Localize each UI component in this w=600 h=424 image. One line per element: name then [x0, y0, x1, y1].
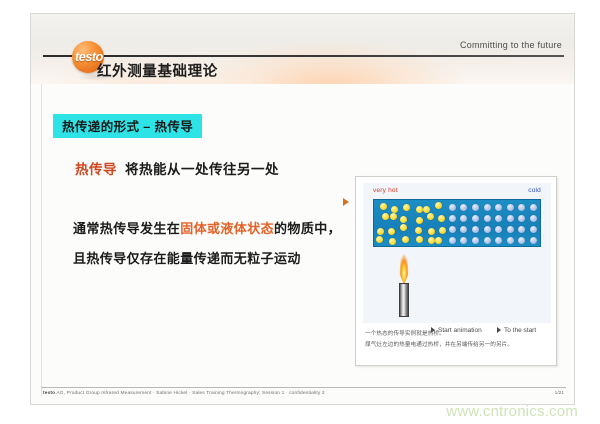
cold-particle	[507, 237, 514, 244]
cold-particle	[460, 215, 467, 222]
cold-particle	[495, 237, 502, 244]
hot-particle	[416, 206, 423, 213]
paragraph-line-1: 通常热传导发生在固体或液体状态的物质中，	[73, 214, 373, 244]
hot-particle	[400, 216, 407, 223]
hot-particle	[416, 217, 423, 224]
cold-particle	[518, 204, 525, 211]
hot-particle	[403, 204, 410, 211]
paragraph-line-2: 且热传导仅存在能量传递而无粒子运动	[73, 244, 373, 274]
hot-particle	[389, 238, 396, 245]
cold-particle	[495, 215, 502, 222]
cold-particle	[449, 215, 456, 222]
hot-particle	[439, 227, 446, 234]
cold-particle	[518, 215, 525, 222]
hot-particle	[428, 228, 435, 235]
screenshot-root: testo Committing to the future 红外测量基础理论 …	[0, 0, 600, 424]
cold-particle	[472, 226, 479, 233]
cold-particle	[507, 204, 514, 211]
cold-particle	[484, 204, 491, 211]
figure-canvas: very hot cold	[363, 183, 551, 323]
cold-particle	[518, 237, 525, 244]
footer-divider-rule	[41, 387, 566, 388]
heat-conduction-figure: very hot cold Start animation To the sta…	[355, 176, 557, 366]
section-heading: 热传递的形式 – 热传导	[53, 114, 202, 138]
cold-particle	[495, 204, 502, 211]
figure-caption: 一个热态的传导实例就是热桥。 煤气灶左边的热量电通过热桥，并在另端传给另一的另片…	[365, 329, 551, 351]
slide-header: testo Committing to the future 红外测量基础理论	[31, 14, 575, 84]
presentation-slide: testo Committing to the future 红外测量基础理论 …	[30, 13, 575, 405]
cold-particle	[472, 204, 479, 211]
cold-particle	[495, 226, 502, 233]
cold-particle	[507, 215, 514, 222]
footer-detail: AG, Product Group Infrared Measurement ·…	[55, 391, 325, 396]
hot-particle	[402, 236, 409, 243]
cold-particle	[530, 237, 537, 244]
cold-particle	[530, 215, 537, 222]
cold-particle	[460, 237, 467, 244]
footer-page-number: 1/21	[555, 391, 564, 396]
hot-particle	[376, 236, 383, 243]
hot-particle	[428, 237, 435, 244]
cold-particle	[472, 237, 479, 244]
cold-particle	[472, 215, 479, 222]
label-cold: cold	[528, 187, 541, 194]
hot-particle	[382, 213, 389, 220]
definition-line: 热传导将热能从一处传往另一处	[75, 158, 279, 178]
cold-particle	[507, 226, 514, 233]
paragraph-line1-suffix: 的物质中，	[274, 221, 341, 236]
site-watermark: www.cntronics.com	[446, 403, 578, 420]
cold-particle	[530, 204, 537, 211]
hot-particle	[377, 228, 384, 235]
flame-icon	[398, 243, 410, 285]
cold-particle	[449, 226, 456, 233]
cold-particle	[484, 226, 491, 233]
caption-line-1: 一个热态的传导实例就是热桥。	[365, 329, 551, 340]
hot-particle	[435, 237, 442, 244]
cold-particle	[518, 226, 525, 233]
hot-particle	[400, 224, 407, 231]
slide-body: 热传递的形式 – 热传导 热传导将热能从一处传往另一处 通常热传导发生在固体或液…	[31, 84, 575, 405]
definition-text: 将热能从一处传往另一处	[125, 162, 279, 177]
cold-particle	[484, 237, 491, 244]
cold-particle	[460, 226, 467, 233]
hot-particle	[435, 202, 442, 209]
left-guide-line	[41, 84, 42, 396]
caption-line-2: 煤气灶左边的热量电通过热桥，并在另端传给另一的另片。	[365, 340, 551, 351]
hot-particle	[390, 213, 397, 220]
hot-particle	[415, 227, 422, 234]
label-very-hot: very hot	[373, 187, 398, 194]
burner-icon	[399, 283, 409, 317]
brand-tagline: Committing to the future	[460, 40, 562, 50]
bullet-arrow-icon	[343, 198, 349, 206]
testo-logo-wordmark: testo	[75, 50, 135, 64]
solid-body-block	[373, 199, 541, 247]
footer-brand: testo	[43, 391, 55, 396]
cold-particle	[449, 204, 456, 211]
hot-particle	[388, 228, 395, 235]
cold-particle	[449, 237, 456, 244]
hot-particle	[438, 215, 445, 222]
paragraph-highlight: 固体或液体状态	[180, 221, 274, 236]
hot-particle	[416, 236, 423, 243]
cold-particle	[460, 204, 467, 211]
definition-keyword: 热传导	[75, 162, 117, 177]
footer-text: testo AG, Product Group Infrared Measure…	[43, 391, 325, 396]
cold-particle	[530, 226, 537, 233]
hot-particle	[380, 203, 387, 210]
cold-particle	[484, 215, 491, 222]
hot-particle	[427, 213, 434, 220]
paragraph-line1-prefix: 通常热传导发生在	[73, 221, 180, 236]
body-paragraph: 通常热传导发生在固体或液体状态的物质中， 且热传导仅存在能量传递而无粒子运动	[73, 214, 373, 274]
